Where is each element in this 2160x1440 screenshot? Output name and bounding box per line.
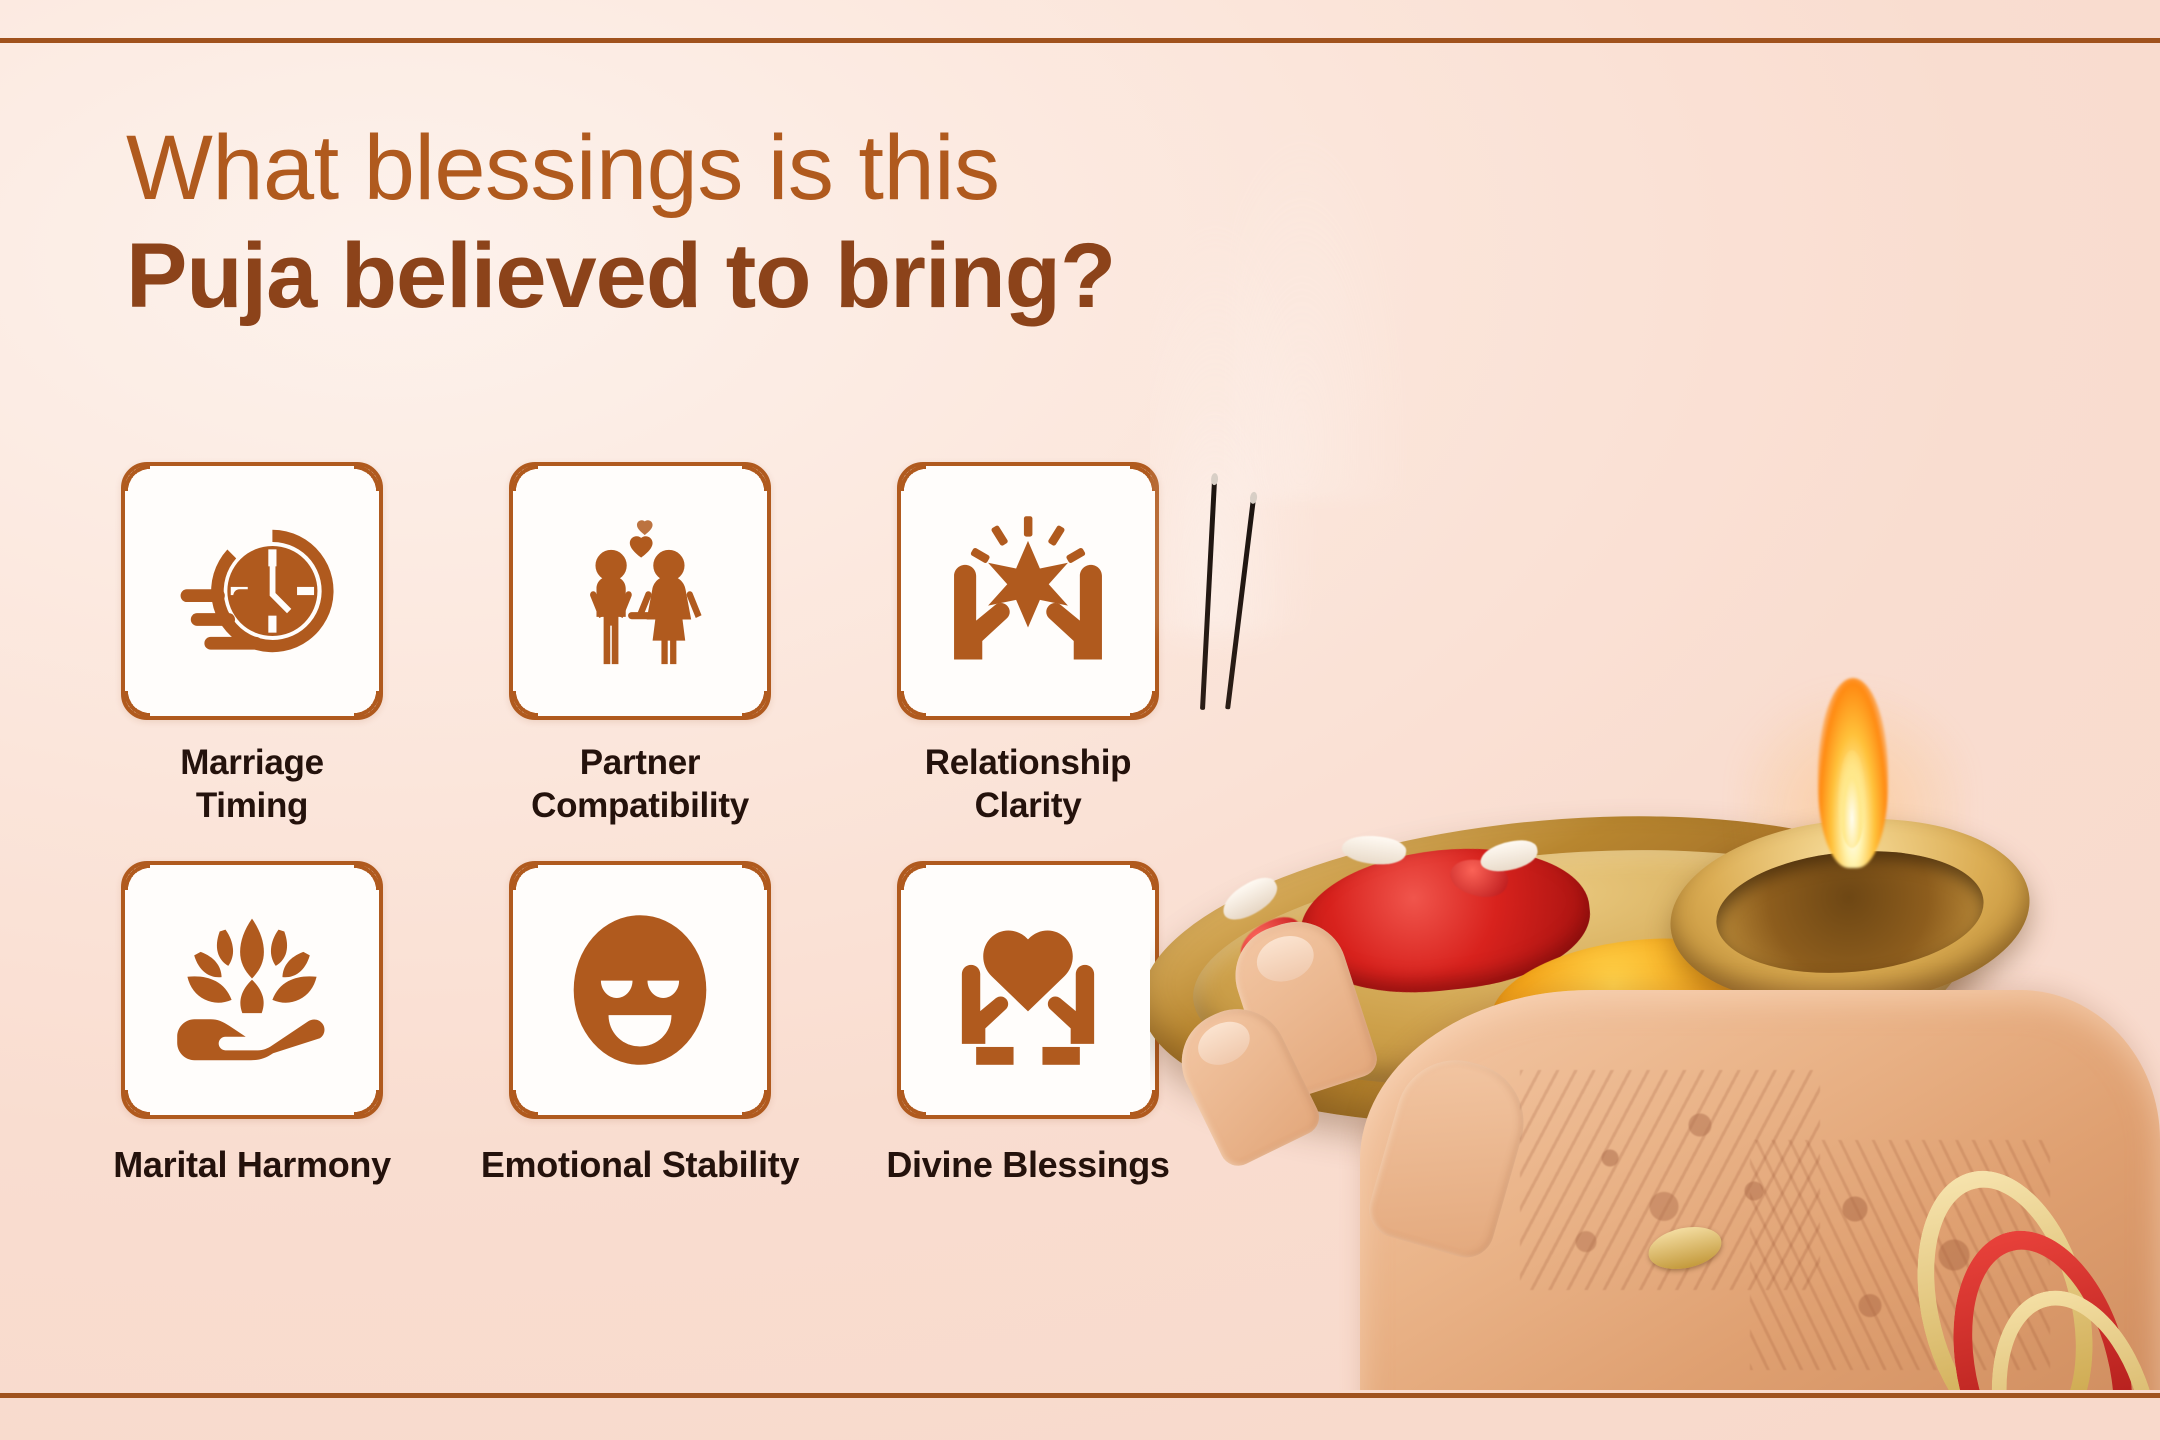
card-notch-bottom-right [742, 691, 776, 725]
blessing-item-relationship-clarity[interactable]: Relationship Clarity [894, 462, 1162, 827]
blessing-card[interactable] [897, 462, 1159, 720]
blessing-item-partner-compatibility[interactable]: Partner Compatibility [506, 462, 774, 827]
card-notch-top-left [116, 856, 150, 890]
card-notch-bottom-left [116, 691, 150, 725]
card-notch-top-left [892, 856, 926, 890]
card-notch-top-left [892, 457, 926, 491]
blessing-label: Marriage Timing [180, 742, 324, 827]
smiling-face-icon [555, 905, 725, 1075]
card-notch-bottom-right [354, 1090, 388, 1124]
card-notch-top-left [504, 856, 538, 890]
bottom-divider-rule [0, 1393, 2160, 1398]
blessing-item-marital-harmony[interactable]: Marital Harmony [118, 861, 386, 1187]
blessing-item-marriage-timing[interactable]: Marriage Timing [118, 462, 386, 827]
card-notch-top-right [742, 457, 776, 491]
couple-heart-icon [555, 506, 725, 676]
blessing-card[interactable] [509, 462, 771, 720]
card-notch-bottom-left [504, 1090, 538, 1124]
card-notch-top-left [116, 457, 150, 491]
blessing-label: Divine Blessings [886, 1143, 1169, 1187]
blessing-card[interactable] [121, 861, 383, 1119]
card-notch-top-right [354, 856, 388, 890]
blessing-label: Emotional Stability [481, 1143, 799, 1187]
card-notch-top-right [742, 856, 776, 890]
blessing-item-emotional-stability[interactable]: Emotional Stability [506, 861, 774, 1187]
blessing-card[interactable] [121, 462, 383, 720]
card-notch-bottom-left [504, 691, 538, 725]
blessing-label: Marital Harmony [113, 1143, 391, 1187]
hands-star-icon [943, 506, 1113, 676]
blessing-label: Relationship Clarity [925, 742, 1131, 827]
hand-lotus-icon [167, 905, 337, 1075]
blessing-card[interactable] [897, 861, 1159, 1119]
hands-heart-icon [943, 905, 1113, 1075]
incense-smoke [1150, 390, 1290, 650]
top-divider-rule [0, 38, 2160, 43]
card-notch-bottom-left [116, 1090, 150, 1124]
fingernail [1251, 929, 1320, 989]
card-notch-bottom-left [892, 691, 926, 725]
clock-speed-icon [167, 506, 337, 676]
diya-flame-core [1838, 750, 1866, 848]
card-notch-top-left [504, 457, 538, 491]
blessing-card[interactable] [509, 861, 771, 1119]
card-notch-bottom-left [892, 1090, 926, 1124]
fingernail [1191, 1014, 1257, 1074]
blessings-grid: Marriage Timing [118, 462, 1162, 1187]
puja-thali-photo [1150, 60, 2160, 1390]
blessing-item-divine-blessings[interactable]: Divine Blessings [894, 861, 1162, 1187]
card-notch-bottom-right [742, 1090, 776, 1124]
card-notch-bottom-right [354, 691, 388, 725]
poster-canvas: What blessings is this Puja believed to … [0, 0, 2160, 1440]
card-notch-top-right [354, 457, 388, 491]
blessing-label: Partner Compatibility [531, 742, 749, 827]
